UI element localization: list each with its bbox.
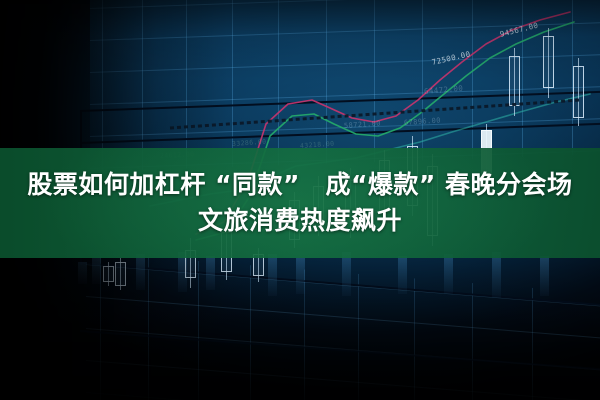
news-thumbnail-image: 94567.0072500.0064472.0058721.0067896.00… [0,0,600,400]
headline-block: 股票如何加杠杆 “同款” 成“爆款” 春晚分会场 文旅消费热度飙升 [0,148,600,258]
headline-line-1: 股票如何加杠杆 “同款” 成“爆款” 春晚分会场 [27,170,572,200]
headline-line-2: 文旅消费热度飙升 [198,206,402,236]
